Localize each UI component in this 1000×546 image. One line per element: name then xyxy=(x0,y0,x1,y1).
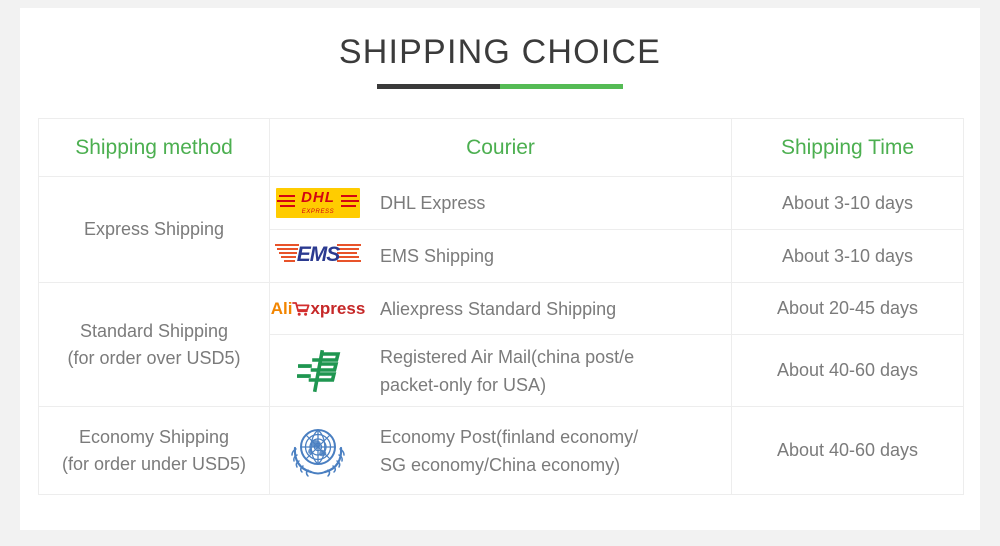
shipping-choice-page: SHIPPING CHOICE Shipping method Courier … xyxy=(0,0,1000,546)
table-row: Standard Shipping (for order over USD5) … xyxy=(39,283,964,335)
table-header: Shipping method Courier Shipping Time xyxy=(39,119,964,177)
time-cell: About 3-10 days xyxy=(732,230,964,283)
method-label-line2: (for order over USD5) xyxy=(39,345,269,372)
united-nations-emblem-icon xyxy=(287,422,349,480)
table-header-row: Shipping method Courier Shipping Time xyxy=(39,119,964,177)
method-label-line1: Standard Shipping xyxy=(39,318,269,345)
courier-cell-ems: EMS EMS Shipping xyxy=(270,230,732,283)
method-label-line1: Express Shipping xyxy=(39,216,269,243)
table-body: Express Shipping DHL EXPRESS xyxy=(39,177,964,495)
courier-cell-economy-post: Economy Post(finland economy/ SG economy… xyxy=(270,407,732,495)
courier-label-line1: Registered Air Mail(china post/e xyxy=(380,347,634,367)
courier-label-line2: packet-only for USA) xyxy=(380,375,546,395)
table-row: Economy Shipping (for order under USD5) xyxy=(39,407,964,495)
dhl-logo-text: DHL xyxy=(276,190,360,205)
united-nations-logo xyxy=(270,422,366,480)
method-cell-standard: Standard Shipping (for order over USD5) xyxy=(39,283,270,407)
courier-label-line2: SG economy/China economy) xyxy=(380,455,620,475)
courier-cell-aliexpress: Ali xpress Ali xyxy=(270,283,732,335)
courier-label: Economy Post(finland economy/ SG economy… xyxy=(380,423,638,479)
courier-label: DHL Express xyxy=(380,189,485,217)
dhl-logo-subtext: EXPRESS xyxy=(276,209,360,216)
courier-cell-dhl: DHL EXPRESS DHL Express xyxy=(270,177,732,230)
content-card: SHIPPING CHOICE Shipping method Courier … xyxy=(20,8,980,530)
shipping-table: Shipping method Courier Shipping Time Ex… xyxy=(38,118,964,495)
method-cell-express: Express Shipping xyxy=(39,177,270,283)
title-underline xyxy=(377,84,623,89)
underline-dark-segment xyxy=(377,84,500,89)
underline-green-segment xyxy=(500,84,623,89)
ems-logo: EMS xyxy=(270,239,366,273)
table-row: Express Shipping DHL EXPRESS xyxy=(39,177,964,230)
aliexpress-logo: Ali xpress xyxy=(270,299,366,319)
time-cell: About 3-10 days xyxy=(732,177,964,230)
column-header-shipping-time: Shipping Time xyxy=(732,119,964,177)
time-cell: About 20-45 days xyxy=(732,283,964,335)
method-cell-economy: Economy Shipping (for order under USD5) xyxy=(39,407,270,495)
page-title: SHIPPING CHOICE xyxy=(20,32,980,72)
courier-label-line1: Economy Post(finland economy/ xyxy=(380,427,638,447)
aliexpress-logo-ali-text: Ali xyxy=(271,299,293,319)
courier-label: Registered Air Mail(china post/e packet-… xyxy=(380,343,634,399)
china-post-emblem-icon xyxy=(292,348,344,394)
time-cell: About 40-60 days xyxy=(732,335,964,407)
dhl-logo: DHL EXPRESS xyxy=(270,188,366,218)
courier-label: EMS Shipping xyxy=(380,242,494,270)
method-label-line2: (for order under USD5) xyxy=(39,451,269,478)
column-header-courier: Courier xyxy=(270,119,732,177)
aliexpress-logo-xpress-text: xpress xyxy=(310,299,365,319)
shopping-cart-icon xyxy=(292,301,310,317)
time-cell: About 40-60 days xyxy=(732,407,964,495)
column-header-shipping-method: Shipping method xyxy=(39,119,270,177)
courier-label: Aliexpress Standard Shipping xyxy=(380,295,616,323)
china-post-logo xyxy=(270,348,366,394)
title-block: SHIPPING CHOICE xyxy=(20,32,980,89)
ems-logo-text: EMS xyxy=(275,243,361,267)
courier-cell-registered-air-mail: Registered Air Mail(china post/e packet-… xyxy=(270,335,732,407)
method-label-line1: Economy Shipping xyxy=(39,424,269,451)
